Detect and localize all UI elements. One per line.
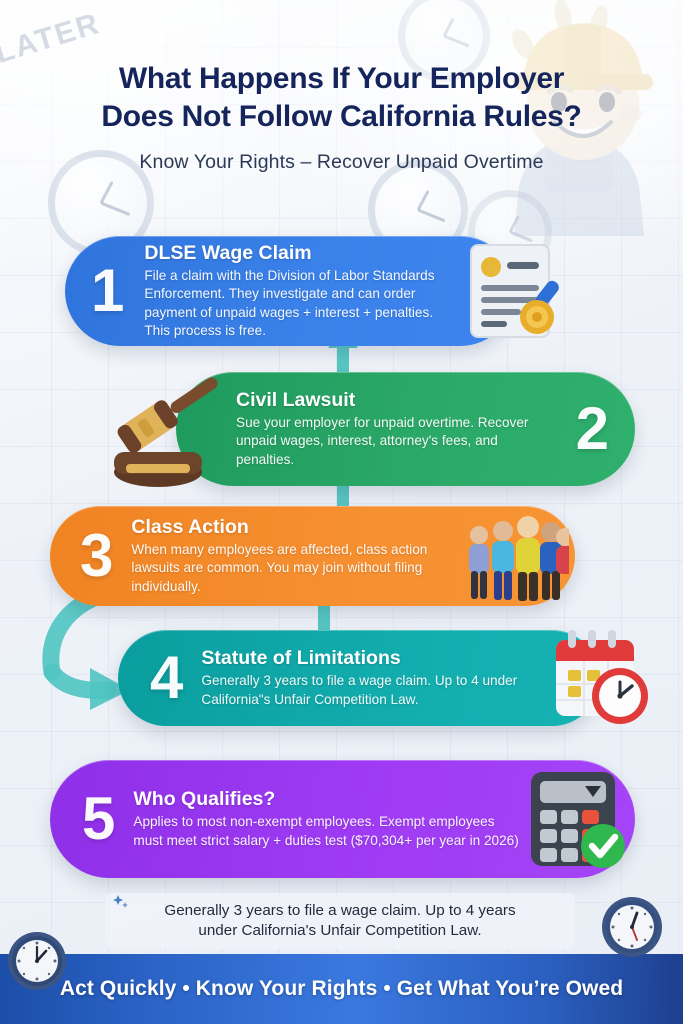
step-body-4: Generally 3 years to file a wage claim. … [201,672,546,708]
step-heading-2: Civil Lawsuit [236,389,558,412]
step-number-5: 5 [82,789,115,849]
document-seal-icon [457,239,565,343]
step-number-4: 4 [150,648,183,708]
step-number-3: 3 [80,526,113,586]
infographic-canvas: LATER [0,0,683,1024]
footer-tagline: Act Quickly • Know Your Rights • Get Wha… [60,977,623,1001]
step-card-3[interactable]: 3 Class Action When many employees are a… [50,506,575,606]
step-body-2: Sue your employer for unpaid overtime. R… [236,414,558,468]
step-body-3: When many employees are affected, class … [131,541,463,595]
footer-bar: Act Quickly • Know Your Rights • Get Wha… [0,954,683,1024]
calendar-clock-icon [548,628,652,728]
step-heading-4: Statute of Limitations [201,647,546,670]
footnote-line-2: under California's Unfair Competition La… [115,921,565,941]
step-card-5[interactable]: 5 Who Qualifies? Applies to most non-exe… [50,760,635,878]
wall-clock-icon-left [6,930,68,992]
page-title-line-2: Does Not Follow California Rules? [24,98,659,136]
step-body-1: File a claim with the Division of Labor … [144,267,453,339]
footnote: Generally 3 years to file a wage claim. … [105,893,575,949]
step-content-1: DLSE Wage Claim File a claim with the Di… [144,242,453,339]
header: What Happens If Your Employer Does Not F… [0,60,683,174]
step-number-2: 2 [576,399,609,459]
step-body-5: Applies to most non-exempt employees. Ex… [133,813,521,849]
step-number-1: 1 [91,261,124,321]
gavel-icon [98,368,230,490]
sparkle-icon [112,894,130,917]
step-heading-3: Class Action [131,516,463,539]
wall-clock-icon-right [600,895,664,959]
step-content-2: Civil Lawsuit Sue your employer for unpa… [236,389,558,468]
step-card-4[interactable]: 4 Statute of Limitations Generally 3 yea… [118,630,600,726]
step-content-4: Statute of Limitations Generally 3 years… [201,647,546,708]
step-heading-5: Who Qualifies? [133,788,521,811]
step-card-1[interactable]: 1 DLSE Wage Claim File a claim with the … [65,236,515,346]
page-title: What Happens If Your Employer Does Not F… [24,60,659,135]
page-subtitle: Know Your Rights – Recover Unpaid Overti… [0,151,683,174]
group-of-people-icon [465,509,569,603]
step-content-5: Who Qualifies? Applies to most non-exemp… [133,788,521,849]
step-heading-1: DLSE Wage Claim [144,242,453,265]
page-title-line-1: What Happens If Your Employer [24,60,659,98]
calculator-check-icon [523,766,629,872]
footnote-line-1: Generally 3 years to file a wage claim. … [115,901,565,921]
step-content-3: Class Action When many employees are aff… [131,516,463,595]
step-card-2[interactable]: Civil Lawsuit Sue your employer for unpa… [176,372,635,486]
